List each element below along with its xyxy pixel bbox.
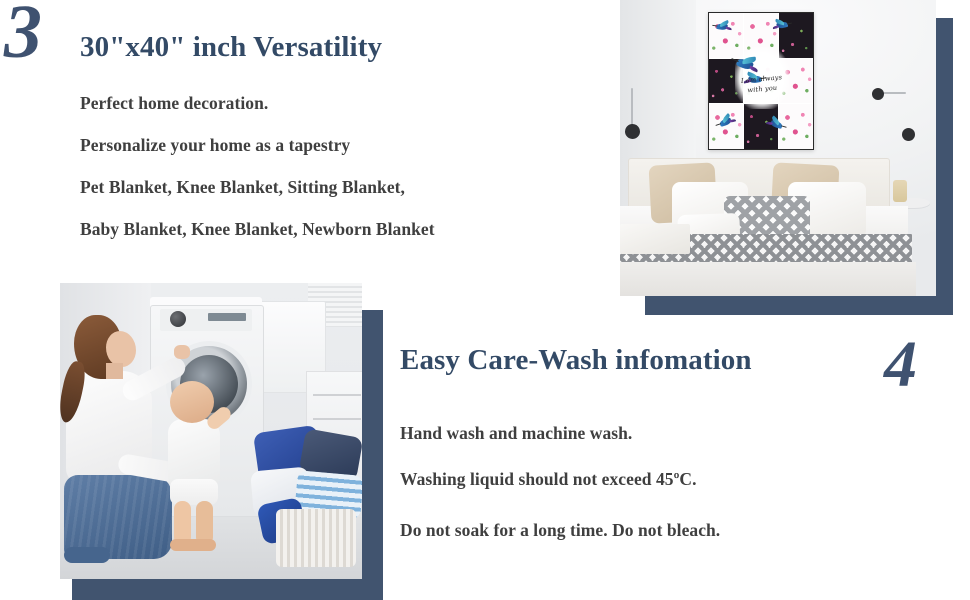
care-line-2: Washing liquid should not exceed 45ºC.	[400, 469, 697, 490]
versatility-line-2: Personalize your home as a tapestry	[80, 135, 350, 156]
bed-base	[620, 262, 916, 296]
versatility-line-3: Pet Blanket, Knee Blanket, Sitting Blank…	[80, 177, 405, 198]
laundry-accent-bar-bottom	[72, 578, 383, 600]
infographic-canvas: 3 30"x40" inch Versatility Perfect home …	[0, 0, 970, 600]
section-number-4: 4	[884, 332, 917, 398]
bedroom-photo: I am always with you	[620, 0, 936, 296]
hummingbird-tapestry-artwork: I am always with you	[708, 12, 814, 150]
care-heading: Easy Care-Wash infomation	[400, 345, 752, 377]
baby-figure	[164, 381, 238, 551]
laundry-basket	[276, 509, 356, 567]
washer-display	[208, 313, 246, 321]
laundry-accent-bar-right	[362, 310, 383, 582]
section-number-3: 3	[4, 0, 42, 70]
versatility-line-4: Baby Blanket, Knee Blanket, Newborn Blan…	[80, 219, 435, 240]
bedroom-accent-bar-bottom	[645, 295, 953, 315]
laundry-photo	[60, 283, 362, 579]
side-table-vase	[893, 180, 907, 202]
versatility-line-1: Perfect home decoration.	[80, 93, 268, 114]
bedroom-accent-bar-right	[935, 18, 953, 315]
care-line-3: Do not soak for a long time. Do not blea…	[400, 520, 720, 541]
bed-throw	[620, 224, 690, 254]
woman-figure	[62, 309, 180, 563]
care-line-1: Hand wash and machine wash.	[400, 423, 632, 444]
versatility-heading: 30"x40" inch Versatility	[80, 32, 382, 64]
